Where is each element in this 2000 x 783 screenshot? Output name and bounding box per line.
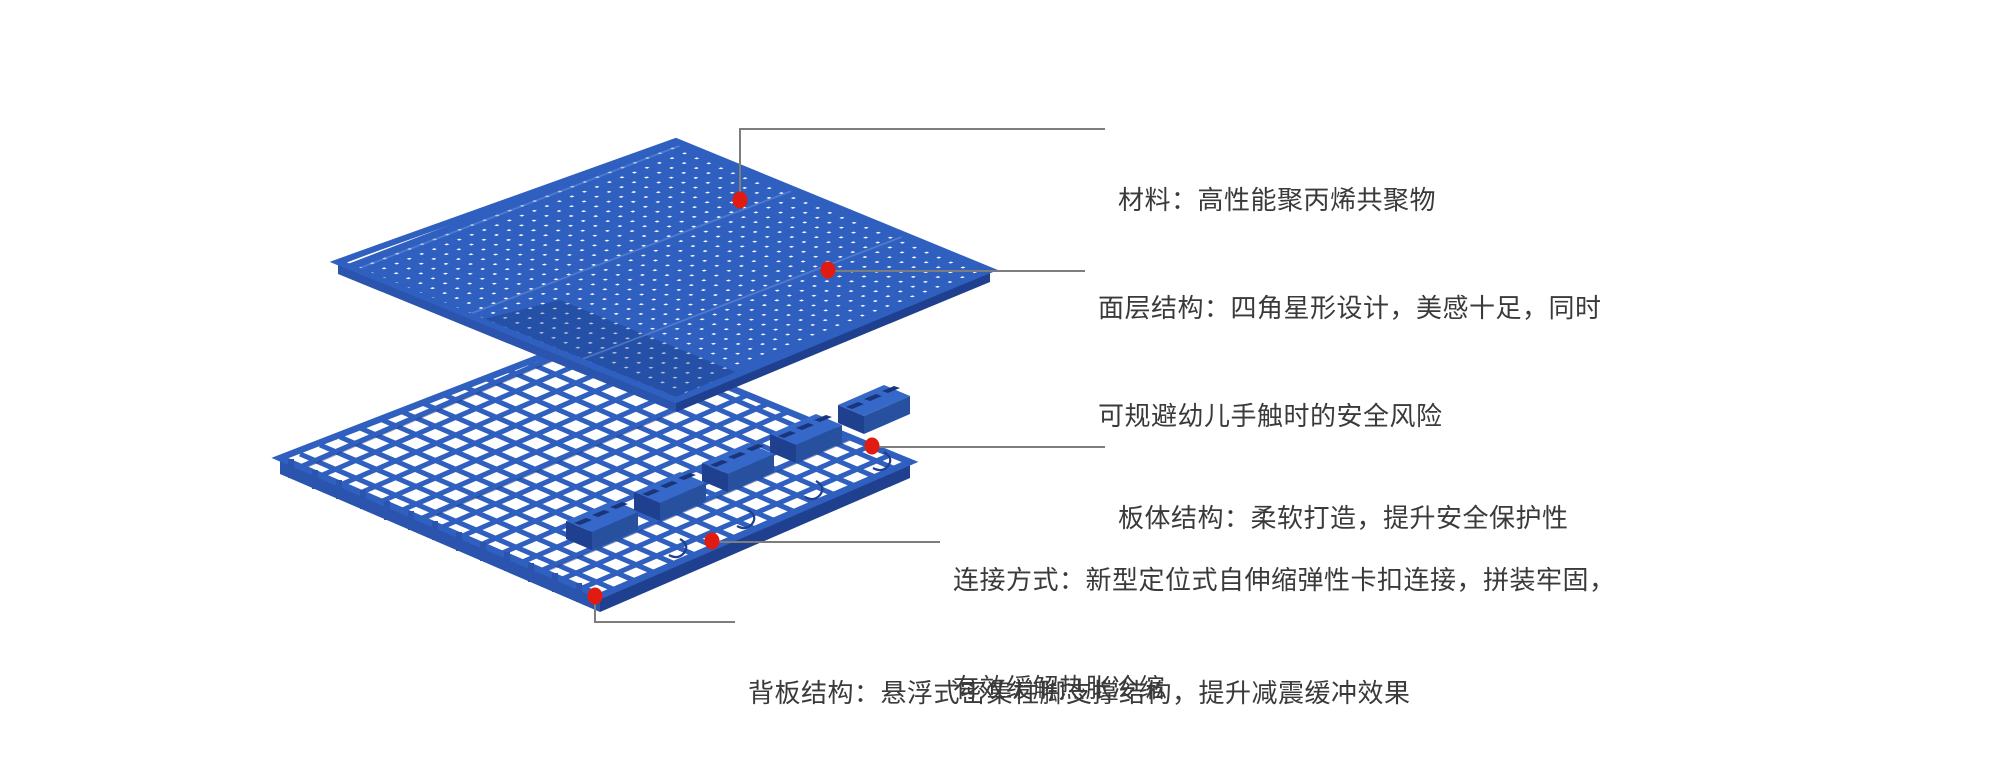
- leader-line-material-run: [739, 128, 1105, 130]
- marker-dot-backing[interactable]: [588, 588, 603, 605]
- marker-dot-connection[interactable]: [705, 533, 720, 550]
- annotation-surface-line-1: 面层结构：四角星形设计，美感十足，同时: [1098, 290, 1602, 326]
- marker-dot-material[interactable]: [733, 192, 748, 209]
- leader-line-backing-run: [594, 621, 735, 623]
- marker-dot-board[interactable]: [865, 438, 880, 455]
- diagram-canvas: 材料：高性能聚丙烯共聚物 面层结构：四角星形设计，美感十足，同时 可规避幼儿手触…: [0, 0, 2000, 761]
- annotation-backing-structure: 背板结构：悬浮式密集柱脚支撑结构，提升减震缓冲效果: [748, 603, 1411, 783]
- annotation-backing-line-1: 背板结构：悬浮式密集柱脚支撑结构，提升减震缓冲效果: [748, 675, 1411, 711]
- marker-dot-surface[interactable]: [821, 262, 836, 279]
- leader-line-connection-run: [712, 541, 940, 543]
- leader-line-board-run: [872, 446, 1105, 448]
- top-surface-layer: [338, 135, 1006, 412]
- annotation-connection-line-1: 连接方式：新型定位式自伸缩弹性卡扣连接，拼装牢固，: [953, 562, 1616, 598]
- leader-line-surface-run: [828, 270, 1085, 272]
- annotation-material-line-1: 材料：高性能聚丙烯共聚物: [1118, 182, 1436, 218]
